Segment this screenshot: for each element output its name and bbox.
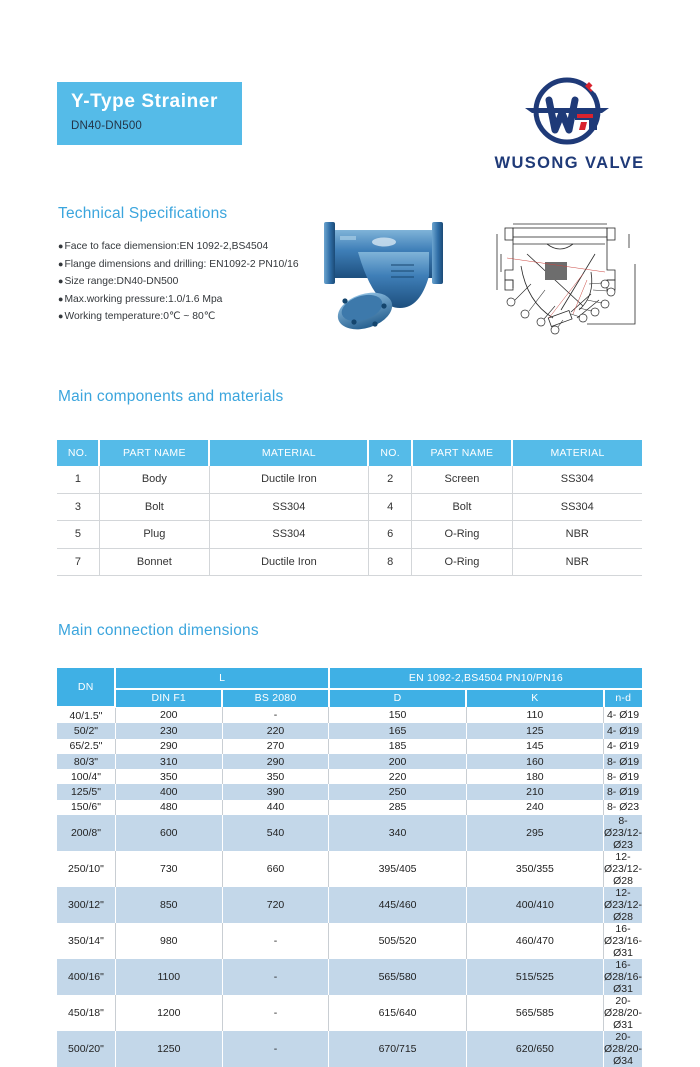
spec-item: ●Working temperature:0℃ ~ 80℃ (58, 308, 308, 326)
dimensions-cell: 12- Ø23/12- Ø28 (604, 887, 642, 923)
table-row: 250/10"730660395/405350/35512- Ø23/12- Ø… (57, 851, 642, 887)
bullet-icon: ● (58, 241, 63, 251)
dimensions-cell: 1100 (115, 959, 222, 995)
materials-header-cell: MATERIAL (209, 440, 368, 466)
dimensions-cell: 145 (466, 739, 603, 754)
dimensions-cell: 670/715 (329, 1031, 466, 1067)
dimensions-cell: 200 (115, 707, 222, 723)
materials-cell: Bonnet (99, 548, 209, 576)
dimensions-cell: 1250 (115, 1031, 222, 1067)
dimensions-cell: 65/2.5" (57, 739, 115, 754)
dimensions-cell: 4- Ø19 (604, 739, 642, 754)
table-row: 3BoltSS3044BoltSS304 (57, 493, 642, 521)
dimensions-cell: 40/1.5" (57, 707, 115, 723)
spec-item: ●Flange dimensions and drilling: EN1092-… (58, 256, 308, 274)
table-row: 400/16"1100-565/580515/52516- Ø28/16- Ø3… (57, 959, 642, 995)
materials-cell: Ductile Iron (209, 466, 368, 493)
dimensions-cell: 290 (115, 739, 222, 754)
materials-cell: Plug (99, 521, 209, 549)
spec-item-label: Face to face diemension:EN 1092-2,BS4504 (64, 241, 268, 252)
bullet-icon: ● (58, 311, 63, 321)
dimensions-cell: 400/16" (57, 959, 115, 995)
spec-item: ●Face to face diemension:EN 1092-2,BS450… (58, 238, 308, 256)
spec-item-label: Size range:DN40-DN500 (64, 276, 178, 287)
dimensions-table-group-header-row: DN L EN 1092-2,BS4504 PN10/PN16 (57, 668, 642, 689)
dimensions-cell: 180 (466, 769, 603, 784)
dimensions-cell: 310 (115, 754, 222, 769)
dimensions-subheader-cell: K (466, 689, 603, 707)
spec-item-label: Max.working pressure:1.0/1.6 Mpa (64, 294, 222, 305)
dimensions-table: DN L EN 1092-2,BS4504 PN10/PN16 DIN F1BS… (57, 668, 642, 1067)
dimensions-header-dn: DN (57, 668, 115, 707)
dimensions-cell: 12- Ø23/12- Ø28 (604, 851, 642, 887)
dimensions-cell: 505/520 (329, 923, 466, 959)
dimensions-cell: 125 (466, 723, 603, 738)
materials-cell: SS304 (512, 466, 642, 493)
materials-header-cell: PART NAME (412, 440, 512, 466)
materials-table-header-row: NO.PART NAMEMATERIALNO.PART NAMEMATERIAL (57, 440, 642, 466)
dimensions-cell: 220 (329, 769, 466, 784)
dimensions-cell: 8- Ø19 (604, 769, 642, 784)
table-row: 40/1.5"200-1501104- Ø19 (57, 707, 642, 723)
dimensions-cell: 110 (466, 707, 603, 723)
materials-cell: NBR (512, 548, 642, 576)
dimensions-header-standard-group: EN 1092-2,BS4504 PN10/PN16 (329, 668, 642, 689)
dimensions-cell: 80/3" (57, 754, 115, 769)
dimensions-cell: 4- Ø19 (604, 707, 642, 723)
table-row: 65/2.5"2902701851454- Ø19 (57, 739, 642, 754)
table-row: 125/5"4003902502108- Ø19 (57, 784, 642, 799)
materials-cell: SS304 (209, 493, 368, 521)
materials-cell: 6 (368, 521, 411, 549)
dimensions-cell: 125/5" (57, 784, 115, 799)
table-row: 300/12"850720445/460400/41012- Ø23/12- Ø… (57, 887, 642, 923)
materials-header-cell: NO. (57, 440, 99, 466)
dimensions-cell: 720 (222, 887, 329, 923)
product-photo-y-strainer (296, 212, 471, 342)
dimensions-cell: 230 (115, 723, 222, 738)
dimensions-cell: 660 (222, 851, 329, 887)
dimensions-cell: 730 (115, 851, 222, 887)
dimensions-subheader-cell: BS 2080 (222, 689, 329, 707)
product-title-block: Y-Type Strainer DN40-DN500 (57, 82, 242, 145)
dimensions-cell: 150/6" (57, 800, 115, 815)
dimensions-cell: 540 (222, 815, 329, 851)
dimensions-cell: 250 (329, 784, 466, 799)
dimensions-cell: 285 (329, 800, 466, 815)
dimensions-header-length-group: L (115, 668, 329, 689)
dimensions-cell: 8- Ø19 (604, 784, 642, 799)
dimensions-cell: 290 (222, 754, 329, 769)
brand-name: WUSONG VALVE (487, 154, 652, 173)
dimensions-cell: 210 (466, 784, 603, 799)
dimensions-cell: 4- Ø19 (604, 723, 642, 738)
dimensions-cell: 220 (222, 723, 329, 738)
section-heading-dimensions: Main connection dimensions (58, 622, 259, 640)
dimensions-cell: 16- Ø23/16- Ø31 (604, 923, 642, 959)
materials-cell: 2 (368, 466, 411, 493)
section-heading-materials: Main components and materials (58, 388, 284, 406)
materials-table: NO.PART NAMEMATERIALNO.PART NAMEMATERIAL… (57, 440, 642, 576)
dimensions-cell: 295 (466, 815, 603, 851)
dimensions-table-body: 40/1.5"200-1501104- Ø1950/2"230220165125… (57, 707, 642, 1067)
dimensions-cell: 350/14" (57, 923, 115, 959)
dimensions-cell: 980 (115, 923, 222, 959)
dimensions-cell: 450/18" (57, 995, 115, 1031)
dimensions-table-subheader-row: DIN F1BS 2080DKn-d (57, 689, 642, 707)
materials-table-body: 1BodyDuctile Iron2ScreenSS3043BoltSS3044… (57, 466, 642, 576)
dimensions-cell: 400/410 (466, 887, 603, 923)
dimensions-cell: 185 (329, 739, 466, 754)
dimensions-cell: 445/460 (329, 887, 466, 923)
bullet-icon: ● (58, 259, 63, 269)
dimensions-subheader-cell: D (329, 689, 466, 707)
table-row: 5PlugSS3046O-RingNBR (57, 521, 642, 549)
dimensions-cell: 300/12" (57, 887, 115, 923)
dimensions-cell: 850 (115, 887, 222, 923)
page-title: Y-Type Strainer (71, 91, 242, 113)
dimensions-cell: 8- Ø23/12- Ø23 (604, 815, 642, 851)
technical-drawing-cross-section (487, 214, 652, 336)
dimensions-cell: 16- Ø28/16- Ø31 (604, 959, 642, 995)
materials-cell: Ductile Iron (209, 548, 368, 576)
materials-cell: O-Ring (412, 548, 512, 576)
materials-cell: O-Ring (412, 521, 512, 549)
table-row: 150/6"4804402852408- Ø23 (57, 800, 642, 815)
dimensions-cell: 600 (115, 815, 222, 851)
dimensions-cell: 8- Ø19 (604, 754, 642, 769)
table-row: 500/20"1250-670/715620/65020- Ø28/20- Ø3… (57, 1031, 642, 1067)
spec-item: ●Max.working pressure:1.0/1.6 Mpa (58, 291, 308, 309)
materials-cell: Bolt (412, 493, 512, 521)
dimensions-cell: 200/8" (57, 815, 115, 851)
product-size-range: DN40-DN500 (71, 120, 242, 132)
spec-item-label: Flange dimensions and drilling: EN1092-2… (64, 259, 298, 270)
materials-cell: SS304 (209, 521, 368, 549)
dimensions-cell: 565/585 (466, 995, 603, 1031)
dimensions-cell: 240 (466, 800, 603, 815)
materials-cell: Screen (412, 466, 512, 493)
dimensions-cell: 250/10" (57, 851, 115, 887)
dimensions-cell: 615/640 (329, 995, 466, 1031)
materials-header-cell: PART NAME (99, 440, 209, 466)
dimensions-cell: - (222, 995, 329, 1031)
dimensions-cell: - (222, 707, 329, 723)
dimensions-subheader-cell: n-d (604, 689, 642, 707)
materials-cell: 3 (57, 493, 99, 521)
table-row: 200/8"6005403402958- Ø23/12- Ø23 (57, 815, 642, 851)
dimensions-cell: 350/355 (466, 851, 603, 887)
materials-cell: 5 (57, 521, 99, 549)
materials-cell: 7 (57, 548, 99, 576)
spec-item: ●Size range:DN40-DN500 (58, 273, 308, 291)
dimensions-cell: 400 (115, 784, 222, 799)
materials-header-cell: MATERIAL (512, 440, 642, 466)
dimensions-cell: 270 (222, 739, 329, 754)
datasheet-page: Y-Type Strainer DN40-DN500 WUSONG VALVE … (0, 0, 700, 1001)
dimensions-cell: 160 (466, 754, 603, 769)
section-heading-technical-specifications: Technical Specifications (58, 205, 227, 223)
dimensions-cell: 440 (222, 800, 329, 815)
dimensions-cell: 500/20" (57, 1031, 115, 1067)
materials-cell: 1 (57, 466, 99, 493)
dimensions-cell: 565/580 (329, 959, 466, 995)
brand-logo: WUSONG VALVE (487, 72, 652, 187)
dimensions-cell: 20- Ø28/20- Ø31 (604, 995, 642, 1031)
dimensions-cell: 390 (222, 784, 329, 799)
bullet-icon: ● (58, 276, 63, 286)
table-row: 50/2"2302201651254- Ø19 (57, 723, 642, 738)
dimensions-cell: - (222, 923, 329, 959)
wusong-logo-icon (505, 72, 630, 150)
technical-specifications-list: ●Face to face diemension:EN 1092-2,BS450… (58, 238, 308, 326)
materials-cell: NBR (512, 521, 642, 549)
dimensions-cell: 1200 (115, 995, 222, 1031)
dimensions-cell: - (222, 1031, 329, 1067)
dimensions-cell: 20- Ø28/20- Ø34 (604, 1031, 642, 1067)
dimensions-cell: - (222, 959, 329, 995)
dimensions-cell: 50/2" (57, 723, 115, 738)
dimensions-cell: 395/405 (329, 851, 466, 887)
dimensions-cell: 200 (329, 754, 466, 769)
table-row: 1BodyDuctile Iron2ScreenSS304 (57, 466, 642, 493)
spec-item-label: Working temperature:0℃ ~ 80℃ (64, 311, 215, 322)
table-row: 7BonnetDuctile Iron8O-RingNBR (57, 548, 642, 576)
table-row: 350/14"980-505/520460/47016- Ø23/16- Ø31 (57, 923, 642, 959)
dimensions-cell: 480 (115, 800, 222, 815)
materials-cell: SS304 (512, 493, 642, 521)
dimensions-subheader-cell: DIN F1 (115, 689, 222, 707)
dimensions-cell: 150 (329, 707, 466, 723)
dimensions-cell: 100/4" (57, 769, 115, 784)
materials-cell: 4 (368, 493, 411, 521)
materials-header-cell: NO. (368, 440, 411, 466)
table-row: 450/18"1200-615/640565/58520- Ø28/20- Ø3… (57, 995, 642, 1031)
dimensions-cell: 350 (115, 769, 222, 784)
dimensions-cell: 340 (329, 815, 466, 851)
materials-cell: Body (99, 466, 209, 493)
dimensions-cell: 460/470 (466, 923, 603, 959)
dimensions-cell: 620/650 (466, 1031, 603, 1067)
materials-cell: 8 (368, 548, 411, 576)
bullet-icon: ● (58, 294, 63, 304)
table-row: 100/4"3503502201808- Ø19 (57, 769, 642, 784)
dimensions-cell: 350 (222, 769, 329, 784)
dimensions-cell: 515/525 (466, 959, 603, 995)
materials-cell: Bolt (99, 493, 209, 521)
dimensions-cell: 165 (329, 723, 466, 738)
dimensions-cell: 8- Ø23 (604, 800, 642, 815)
table-row: 80/3"3102902001608- Ø19 (57, 754, 642, 769)
